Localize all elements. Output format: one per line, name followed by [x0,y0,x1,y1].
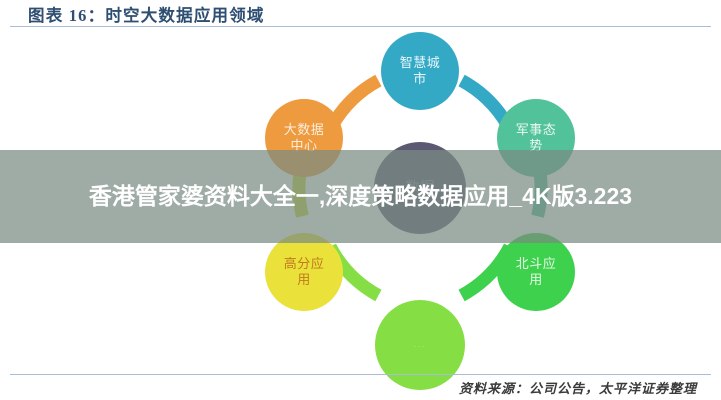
node-high-resolution-application[interactable]: 高分应用 [265,233,343,311]
node-smart-city[interactable]: 智慧城市 [381,32,459,110]
node-high-resolution-application-label: 高分应用 [281,256,327,289]
node-beidou-application[interactable]: 北斗应用 [497,233,575,311]
title-divider [10,26,711,27]
source-note: 资料来源：公司公告，太平洋证券整理 [459,378,697,397]
node-beidou-application-label: 北斗应用 [513,256,559,289]
node-ellipsis-label: ... [397,340,443,350]
figure-page: 图表 16：时空大数据应用领域 数据 智慧城市 军事态势 [0,0,721,400]
node-smart-city-label: 智慧城市 [397,55,443,88]
page-title: 图表 16：时空大数据应用领域 [28,2,265,26]
watermark-overlay: 香港管家婆资料大全一,深度策略数据应用_4K版3.223 [0,150,721,243]
footer-divider [10,374,711,375]
watermark-text: 香港管家婆资料大全一,深度策略数据应用_4K版3.223 [41,181,681,211]
node-ellipsis[interactable]: ... [375,300,465,390]
